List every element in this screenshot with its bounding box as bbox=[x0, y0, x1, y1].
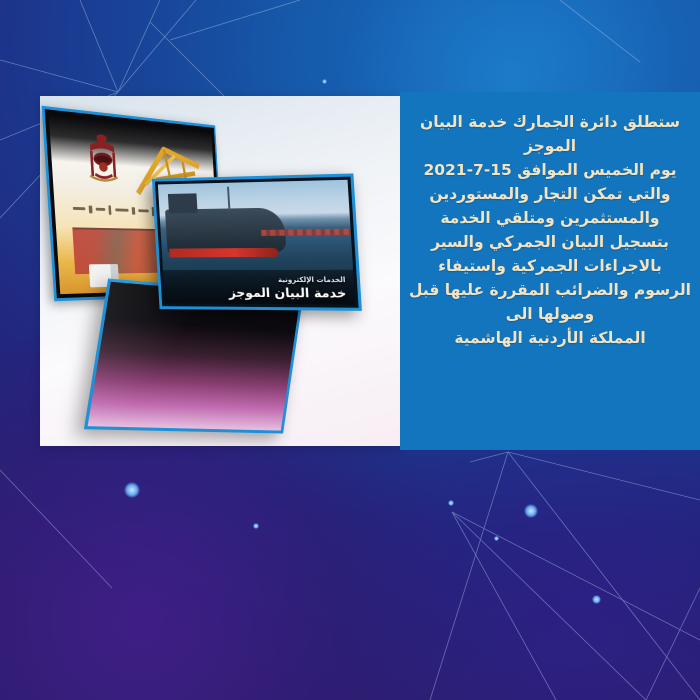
overlay-service-title: خدمة البيان الموجز bbox=[228, 285, 346, 301]
promo-image-card: الخدمات الإلكترونية خدمة البيان الموجز bbox=[40, 96, 400, 446]
network-node-dot bbox=[322, 79, 327, 84]
network-node-dot bbox=[253, 523, 259, 529]
poster-canvas: الخدمات الإلكترونية خدمة البيان الموجز س… bbox=[0, 0, 700, 700]
network-node-dot bbox=[448, 500, 454, 506]
ship-mast bbox=[227, 187, 230, 211]
network-node-dot bbox=[494, 536, 499, 541]
promo-overlay-text: الخدمات الإلكترونية خدمة البيان الموجز bbox=[228, 276, 347, 301]
ship-waterline bbox=[169, 248, 279, 258]
announcement-line: بتسجيل البيان الجمركي والسير بالاجراءات … bbox=[408, 230, 693, 326]
announcement-line: ستطلق دائرة الجمارك خدمة البيان الموجز bbox=[408, 110, 693, 158]
network-node-dot bbox=[524, 504, 538, 518]
announcement-line: والتي تمكن التجار والمستوردين والمستثمري… bbox=[408, 182, 693, 230]
jordan-coat-of-arms-icon bbox=[82, 131, 123, 186]
quay-barrier bbox=[261, 229, 351, 236]
announcement-line: المملكة الأردنية الهاشمية bbox=[408, 326, 693, 350]
overlay-service-label: الخدمات الإلكترونية bbox=[228, 276, 346, 285]
network-node-dot bbox=[124, 482, 140, 498]
announcement-line: يوم الخميس الموافق 15-7-2021 bbox=[408, 158, 693, 182]
network-node-dot bbox=[592, 595, 601, 604]
promo-panel-ship-screen: الخدمات الإلكترونية خدمة البيان الموجز bbox=[152, 173, 362, 310]
announcement-text-panel: ستطلق دائرة الجمارك خدمة البيان الموجز ي… bbox=[400, 92, 700, 450]
ship-superstructure bbox=[168, 193, 198, 213]
cargo-ship-photo: الخدمات الإلكترونية خدمة البيان الموجز bbox=[158, 180, 355, 305]
